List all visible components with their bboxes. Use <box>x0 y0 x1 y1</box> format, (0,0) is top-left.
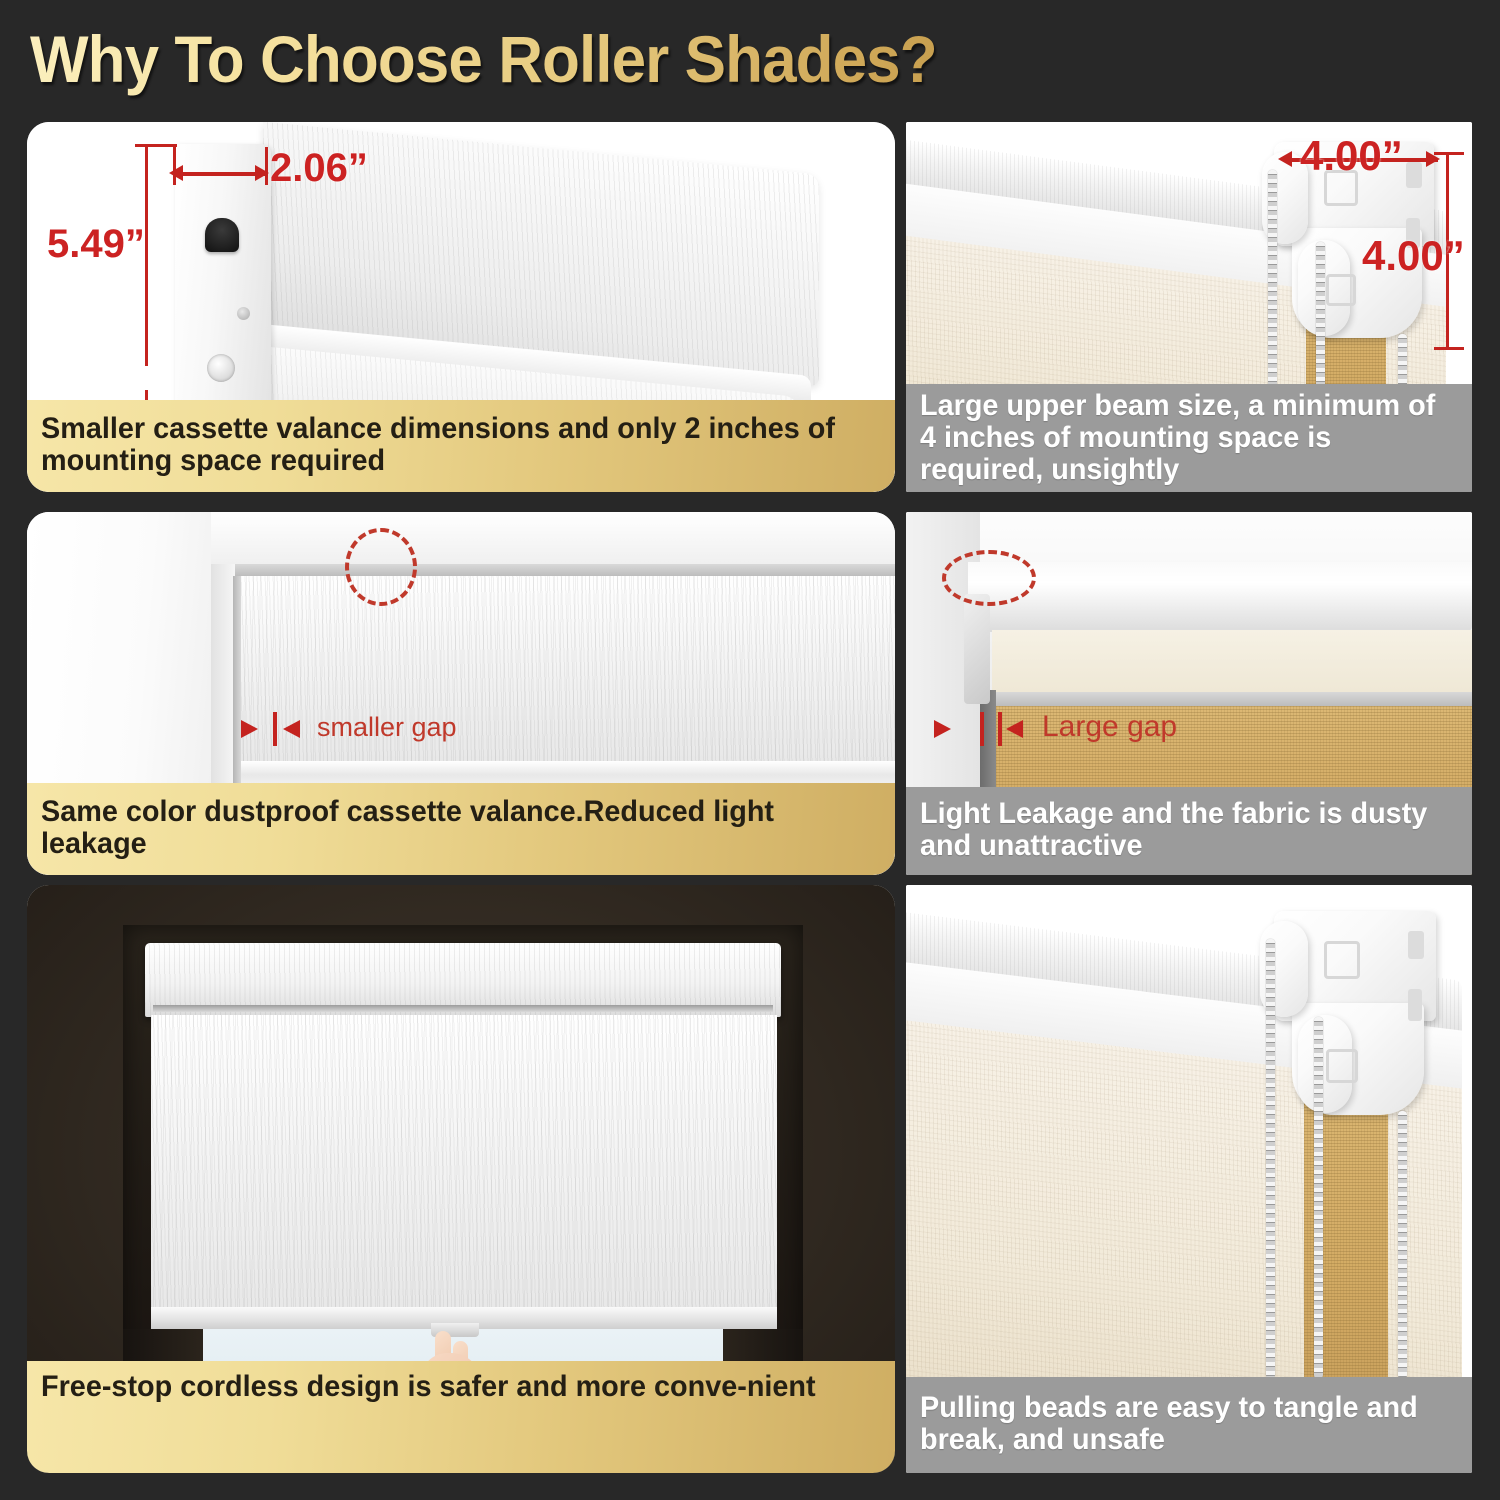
caption-pro-dustproof-valance: Same color dustproof cassette valance.Re… <box>27 783 895 875</box>
gap-marker-line <box>273 712 277 746</box>
caption-con-large-upper-beam: Large upper beam size, a minimum of 4 in… <box>906 384 1472 492</box>
cassette-rail <box>235 564 895 576</box>
bead-chain-back[interactable] <box>1398 1111 1407 1379</box>
gap-label-large: Large gap <box>1042 710 1177 744</box>
caption-text: Light Leakage and the fabric is dusty an… <box>920 798 1436 862</box>
panel-con-light-leakage: Large gap Light Leakage and the fabric i… <box>906 512 1472 875</box>
valance-end-cap <box>175 144 271 428</box>
gap-marker-line-right <box>998 712 1002 746</box>
height-dim-tick-top <box>135 144 177 147</box>
cassette-bottom-line <box>153 1005 773 1012</box>
bracket-notch-bottom <box>1408 989 1422 1021</box>
roller-tube <box>968 562 1472 632</box>
beam-width-arrow-left <box>1278 151 1292 167</box>
caption-text: Pulling beads are easy to tangle and bre… <box>920 1392 1436 1456</box>
gap-arrow-right <box>283 720 300 738</box>
beam-width-label: 4.00” <box>1300 132 1403 180</box>
beam-height-tick-top <box>1434 152 1464 155</box>
bead-chain-middle[interactable] <box>1314 1017 1323 1379</box>
valance-face <box>992 630 1472 692</box>
end-cap-screw-lower <box>207 354 235 382</box>
gap-arrow-left <box>241 720 258 738</box>
beam-height-tick-bottom <box>1434 347 1464 350</box>
panel-con-pulling-beads: Pulling beads are easy to tangle and bre… <box>906 885 1472 1473</box>
caption-pro-cordless-design: Free-stop cordless design is safer and m… <box>27 1361 895 1473</box>
panel-pro-cassette-dimensions: 2.06” 5.49” Smaller cassette valance dim… <box>27 122 895 492</box>
caption-text: Same color dustproof cassette valance.Re… <box>41 796 847 860</box>
caption-con-light-leakage: Light Leakage and the fabric is dusty an… <box>906 787 1472 875</box>
panel-con-large-upper-beam: 4.00” 4.00” Large upper beam size, a min… <box>906 122 1472 492</box>
panel-pro-cordless-design: Free-stop cordless design is safer and m… <box>27 885 895 1473</box>
width-dimension-label: 2.06” <box>270 146 368 191</box>
gap-marker-line-left <box>980 712 984 746</box>
page-title: Why To Choose Roller Shades? <box>30 18 1064 100</box>
gap-label-smaller: smaller gap <box>317 712 457 743</box>
roller-shade-fabric <box>151 1015 777 1307</box>
bracket-slot-b <box>1326 274 1356 306</box>
caption-pro-cassette-dimensions: Smaller cassette valance dimensions and … <box>27 400 895 492</box>
valance-bottom-edge <box>992 692 1472 706</box>
bracket-slot-a <box>1324 941 1360 979</box>
height-dimension-label: 5.49” <box>47 222 145 267</box>
width-dim-line <box>179 172 267 176</box>
bead-chain-middle <box>1316 242 1325 404</box>
width-dim-arrow-right <box>255 165 269 181</box>
caption-text: Free-stop cordless design is safer and m… <box>41 1371 816 1403</box>
gap-arrow-right <box>1006 720 1023 738</box>
bracket-notch-top <box>1406 162 1422 188</box>
panel-pro-dustproof-valance: smaller gap Same color dustproof cassett… <box>27 512 895 875</box>
highlight-circle-gap <box>942 550 1036 606</box>
end-cap-slot <box>205 218 239 252</box>
bead-chain-front[interactable] <box>1266 939 1275 1379</box>
gap-arrow-left <box>934 720 951 738</box>
end-cap-screw-upper <box>237 307 250 320</box>
caption-text: Large upper beam size, a minimum of 4 in… <box>920 390 1436 485</box>
bracket-slot-b <box>1326 1049 1358 1083</box>
window-frame-top <box>211 512 895 564</box>
bead-chain-front <box>1268 170 1277 400</box>
caption-con-pulling-beads: Pulling beads are easy to tangle and bre… <box>906 1377 1472 1473</box>
highlight-circle-gap <box>345 528 417 606</box>
caption-text: Smaller cassette valance dimensions and … <box>41 413 847 477</box>
height-dim-line-upper <box>145 146 148 366</box>
bracket-notch-top <box>1408 931 1424 959</box>
mounting-bracket <box>964 594 990 704</box>
beam-height-label: 4.00” <box>1362 232 1465 280</box>
width-dim-arrow-left <box>169 165 183 181</box>
